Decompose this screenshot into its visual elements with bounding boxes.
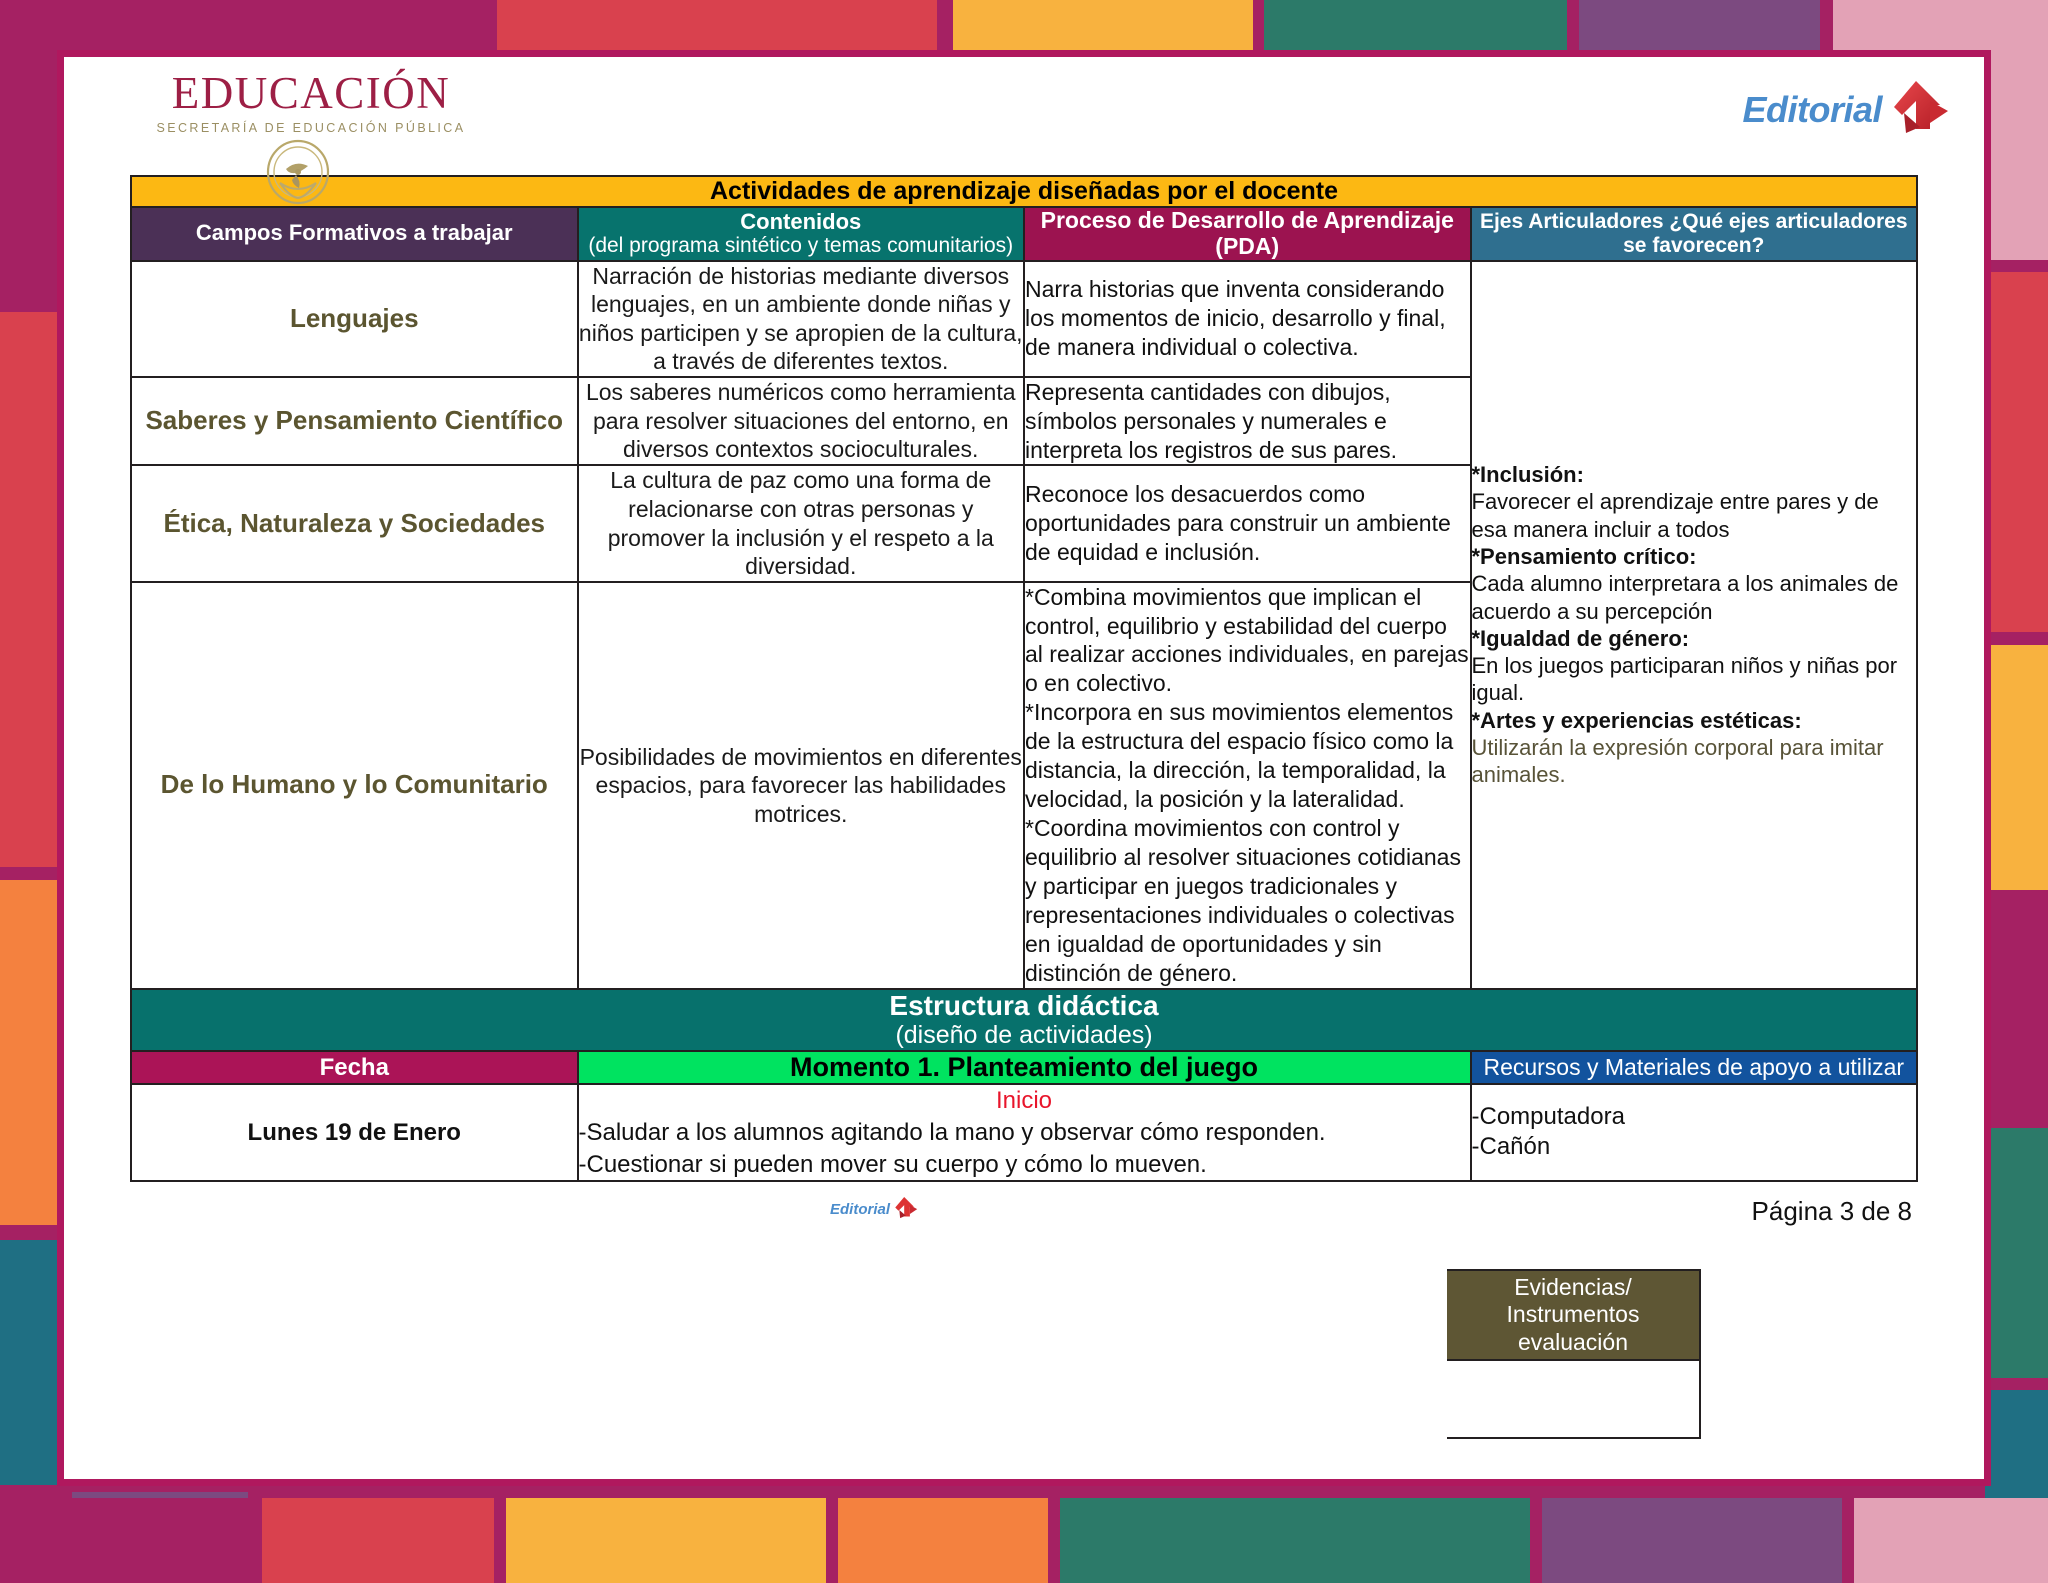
estructura-band-row: Estructura didáctica (diseño de activida… bbox=[131, 989, 1917, 1051]
inicio-label: Inicio bbox=[579, 1085, 1470, 1116]
sep-title: EDUCACIÓN bbox=[101, 71, 521, 116]
activity-description: Inicio -Saludar a los alumnos agitando l… bbox=[578, 1084, 1471, 1181]
estructura-header-row: Fecha Momento 1. Planteamiento del juego… bbox=[131, 1051, 1917, 1084]
estructura-band: Estructura didáctica (diseño de activida… bbox=[131, 989, 1917, 1051]
pda-cell: Narra historias que inventa considerando… bbox=[1024, 261, 1471, 377]
deco-block bbox=[1985, 645, 2048, 890]
md-arrow-icon bbox=[892, 1196, 918, 1224]
eje-description: Favorecer el aprendizaje entre pares y d… bbox=[1472, 488, 1917, 543]
deco-block bbox=[1854, 1498, 2048, 1583]
col-header-pda: Proceso de Desarrollo de Aprendizaje (PD… bbox=[1024, 207, 1471, 261]
eje-description: Utilizarán la expresión corporal para im… bbox=[1472, 734, 1917, 789]
evidencias-cell bbox=[1447, 1361, 1701, 1439]
campo-formativo: Lenguajes bbox=[131, 261, 578, 377]
deco-block bbox=[1985, 1128, 2048, 1378]
activity-row: Lunes 19 de Enero Inicio -Saludar a los … bbox=[131, 1084, 1917, 1181]
eje-description: En los juegos participaran niños y niñas… bbox=[1472, 652, 1917, 707]
col-header-contenidos: Contenidos (del programa sintético y tem… bbox=[578, 207, 1025, 261]
deco-block bbox=[1542, 1498, 1842, 1583]
table-row: Lenguajes Narración de historias mediant… bbox=[131, 261, 1917, 377]
deco-block bbox=[838, 1498, 1048, 1583]
banner-title: Actividades de aprendizaje diseñadas por… bbox=[131, 176, 1917, 207]
column-header-row: Campos Formativos a trabajar Contenidos … bbox=[131, 207, 1917, 261]
page-footer: Editorial Página 3 de 8 bbox=[130, 1188, 1918, 1246]
campo-formativo: Ética, Naturaleza y Sociedades bbox=[131, 465, 578, 581]
page-number: Página 3 de 8 bbox=[1752, 1196, 1912, 1227]
mexican-coat-of-arms-icon bbox=[258, 139, 334, 201]
campo-formativo: De lo Humano y lo Comunitario bbox=[131, 582, 578, 990]
eje-label: *Pensamiento crítico: bbox=[1472, 543, 1917, 570]
deco-block bbox=[506, 1498, 826, 1583]
banner-row: Actividades de aprendizaje diseñadas por… bbox=[131, 176, 1917, 207]
col-header-campos: Campos Formativos a trabajar bbox=[131, 207, 578, 261]
pda-cell: *Combina movimientos que implican el con… bbox=[1024, 582, 1471, 990]
deco-block bbox=[1985, 900, 2048, 1115]
eje-label: *Inclusión: bbox=[1472, 461, 1917, 488]
contenidos-title: Contenidos bbox=[579, 210, 1024, 235]
eje-label: *Igualdad de género: bbox=[1472, 625, 1917, 652]
estructura-title: Estructura didáctica bbox=[132, 990, 1916, 1021]
footer-logo-text: Editorial bbox=[830, 1201, 890, 1218]
ejes-articuladores-cell: *Inclusión:Favorecer el aprendizaje entr… bbox=[1471, 261, 1918, 990]
deco-block bbox=[0, 880, 58, 1225]
col-header-fecha: Fecha bbox=[131, 1051, 578, 1084]
col-header-recursos: Recursos y Materiales de apoyo a utiliza… bbox=[1471, 1051, 1918, 1084]
contenido-cell: Los saberes numéricos como herramienta p… bbox=[578, 377, 1025, 466]
eje-description: Cada alumno interpretara a los animales … bbox=[1472, 570, 1917, 625]
contenido-cell: La cultura de paz como una forma de rela… bbox=[578, 465, 1025, 581]
deco-block bbox=[1060, 1498, 1530, 1583]
activity-line-1: -Saludar a los alumnos agitando la mano … bbox=[579, 1117, 1470, 1148]
contenido-cell: Narración de historias mediante diversos… bbox=[578, 261, 1025, 377]
col-header-ejes: Ejes Articuladores ¿Qué ejes articulador… bbox=[1471, 207, 1918, 261]
eje-label: *Artes y experiencias estéticas: bbox=[1472, 707, 1917, 734]
planning-table: Actividades de aprendizaje diseñadas por… bbox=[130, 175, 1918, 1182]
deco-block bbox=[262, 1498, 494, 1583]
pda-cell: Representa cantidades con dibujos, símbo… bbox=[1024, 377, 1471, 466]
deco-block bbox=[0, 1498, 250, 1583]
editorial-logo-text: Editorial bbox=[1742, 89, 1882, 131]
campo-formativo: Saberes y Pensamiento Científico bbox=[131, 377, 578, 466]
md-arrow-icon bbox=[1886, 79, 1950, 140]
activity-line-2: -Cuestionar si pueden mover su cuerpo y … bbox=[579, 1149, 1470, 1180]
pda-cell: Reconoce los desacuerdos como oportunida… bbox=[1024, 465, 1471, 581]
page-header: EDUCACIÓN SECRETARÍA DE EDUCACIÓN PÚBLIC… bbox=[64, 57, 1984, 175]
deco-block bbox=[0, 1240, 58, 1485]
activity-recursos: -Computadora -Cañón bbox=[1471, 1084, 1918, 1181]
evidencias-overlay: Evidencias/ Instrumentos evaluación bbox=[1447, 1269, 1701, 1439]
col-header-evidencias: Evidencias/ Instrumentos evaluación bbox=[1447, 1269, 1701, 1361]
deco-block bbox=[1985, 272, 2048, 632]
col-header-momento: Momento 1. Planteamiento del juego bbox=[578, 1051, 1471, 1084]
sep-subtitle: SECRETARÍA DE EDUCACIÓN PÚBLICA bbox=[101, 121, 521, 135]
contenido-cell: Posibilidades de movimientos en diferent… bbox=[578, 582, 1025, 990]
sep-logo: EDUCACIÓN SECRETARÍA DE EDUCACIÓN PÚBLIC… bbox=[101, 71, 521, 135]
activity-fecha: Lunes 19 de Enero bbox=[131, 1084, 578, 1181]
estructura-subtitle: (diseño de actividades) bbox=[132, 1021, 1916, 1050]
document-page: EDUCACIÓN SECRETARÍA DE EDUCACIÓN PÚBLIC… bbox=[57, 50, 1991, 1486]
footer-editorial-logo: Editorial bbox=[830, 1196, 918, 1224]
contenidos-subtitle: (del programa sintético y temas comunita… bbox=[579, 234, 1024, 258]
editorial-md-logo: Editorial bbox=[1742, 79, 1950, 140]
